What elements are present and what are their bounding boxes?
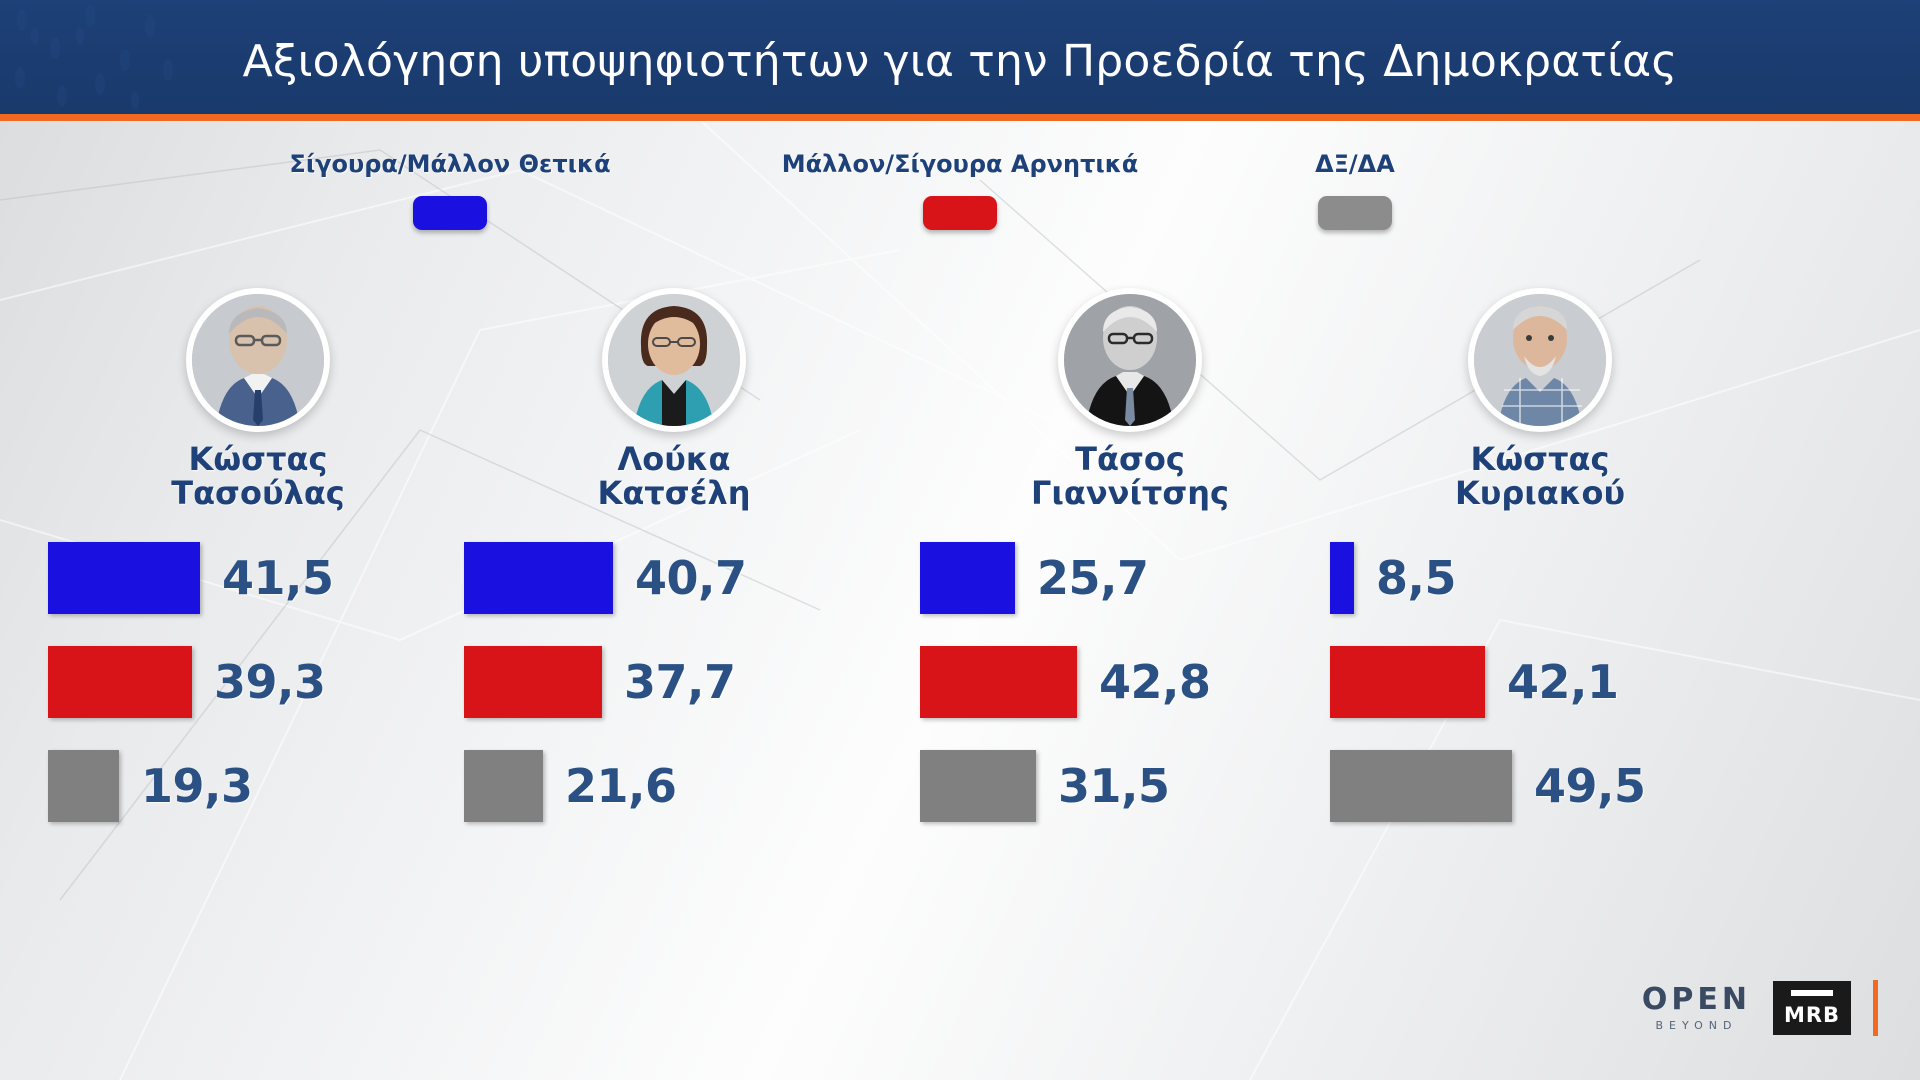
candidate-name: Λούκα Κατσέλη: [464, 442, 884, 510]
header-bar: Αξιολόγηση υποψηφιοτήτων για την Προεδρί…: [0, 0, 1920, 114]
bar-dk: [920, 750, 1036, 822]
bar-row-negative: 39,3: [48, 630, 468, 734]
bar-positive: [48, 542, 200, 614]
bar-row-dk: 21,6: [464, 734, 884, 838]
bar-value-positive: 8,5: [1376, 551, 1456, 605]
legend-swatch-negative: [923, 196, 997, 230]
legend: Σίγουρα/Μάλλον Θετικά Μάλλον/Σίγουρα Αρν…: [0, 150, 1920, 260]
candidate-bars: 8,5 42,1 49,5: [1330, 526, 1750, 838]
mrb-logo: MRB: [1773, 981, 1851, 1035]
bar-value-positive: 25,7: [1037, 551, 1149, 605]
bar-positive: [920, 542, 1015, 614]
avatar: [186, 288, 330, 432]
bar-row-positive: 8,5: [1330, 526, 1750, 630]
bar-dk: [1330, 750, 1512, 822]
poll-infographic: Αξιολόγηση υποψηφιοτήτων για την Προεδρί…: [0, 0, 1920, 1080]
bar-value-dk: 19,3: [141, 759, 253, 813]
bar-row-positive: 41,5: [48, 526, 468, 630]
bar-row-dk: 49,5: [1330, 734, 1750, 838]
legend-item-negative: Μάλλον/Σίγουρα Αρνητικά: [740, 150, 1180, 230]
bar-negative: [48, 646, 192, 718]
open-beyond-logo: OPEN BEYOND: [1642, 985, 1751, 1031]
legend-item-dk: ΔΞ/ΔΑ: [1230, 150, 1480, 230]
bar-negative: [1330, 646, 1485, 718]
portrait-icon: [1474, 294, 1606, 426]
candidate-bars: 40,7 37,7 21,6: [464, 526, 884, 838]
portrait-icon: [1064, 294, 1196, 426]
legend-item-positive: Σίγουρα/Μάλλον Θετικά: [230, 150, 670, 230]
portrait-icon: [608, 294, 740, 426]
bar-row-dk: 19,3: [48, 734, 468, 838]
candidate-columns: Κώστας Τασούλας 41,5 39,3 19,3: [0, 288, 1920, 968]
bar-negative: [920, 646, 1077, 718]
avatar: [1468, 288, 1612, 432]
candidate-column: Τάσος Γιαννίτσης 25,7 42,8 31,5: [920, 288, 1340, 838]
bar-row-negative: 42,1: [1330, 630, 1750, 734]
orange-accent-tick: [1873, 980, 1878, 1036]
bar-row-positive: 25,7: [920, 526, 1340, 630]
bar-row-dk: 31,5: [920, 734, 1340, 838]
bar-value-positive: 41,5: [222, 551, 334, 605]
bar-row-negative: 42,8: [920, 630, 1340, 734]
bar-value-dk: 31,5: [1058, 759, 1170, 813]
bar-positive: [1330, 542, 1354, 614]
candidate-name: Κώστας Κυριακού: [1330, 442, 1750, 510]
beyond-logo-word: BEYOND: [1642, 1020, 1751, 1031]
candidate-bars: 25,7 42,8 31,5: [920, 526, 1340, 838]
bar-row-negative: 37,7: [464, 630, 884, 734]
bar-row-positive: 40,7: [464, 526, 884, 630]
legend-swatch-positive: [413, 196, 487, 230]
avatar: [602, 288, 746, 432]
avatar: [1058, 288, 1202, 432]
page-title: Αξιολόγηση υποψηφιοτήτων για την Προεδρί…: [0, 36, 1920, 87]
bar-dk: [48, 750, 119, 822]
candidate-column: Λούκα Κατσέλη 40,7 37,7 21,6: [464, 288, 884, 838]
bar-negative: [464, 646, 602, 718]
candidate-bars: 41,5 39,3 19,3: [48, 526, 468, 838]
bar-value-positive: 40,7: [635, 551, 747, 605]
bar-value-negative: 37,7: [624, 655, 736, 709]
footer-logos: OPEN BEYOND MRB: [1642, 980, 1878, 1036]
candidate-column: Κώστας Τασούλας 41,5 39,3 19,3: [48, 288, 468, 838]
legend-label-dk: ΔΞ/ΔΑ: [1230, 150, 1480, 178]
candidate-name: Κώστας Τασούλας: [48, 442, 468, 510]
candidate-name: Τάσος Γιαννίτσης: [920, 442, 1340, 510]
legend-label-negative: Μάλλον/Σίγουρα Αρνητικά: [740, 150, 1180, 178]
bar-value-negative: 42,8: [1099, 655, 1211, 709]
bar-value-negative: 39,3: [214, 655, 326, 709]
header-accent-rule: [0, 114, 1920, 121]
bar-value-dk: 49,5: [1534, 759, 1646, 813]
mrb-logo-word: MRB: [1784, 1003, 1840, 1027]
candidate-column: Κώστας Κυριακού 8,5 42,1 49,5: [1330, 288, 1750, 838]
open-logo-word: OPEN: [1642, 985, 1751, 1015]
portrait-icon: [192, 294, 324, 426]
legend-swatch-dk: [1318, 196, 1392, 230]
bar-value-dk: 21,6: [565, 759, 677, 813]
bar-dk: [464, 750, 543, 822]
legend-label-positive: Σίγουρα/Μάλλον Θετικά: [230, 150, 670, 178]
bar-value-negative: 42,1: [1507, 655, 1619, 709]
bar-positive: [464, 542, 613, 614]
